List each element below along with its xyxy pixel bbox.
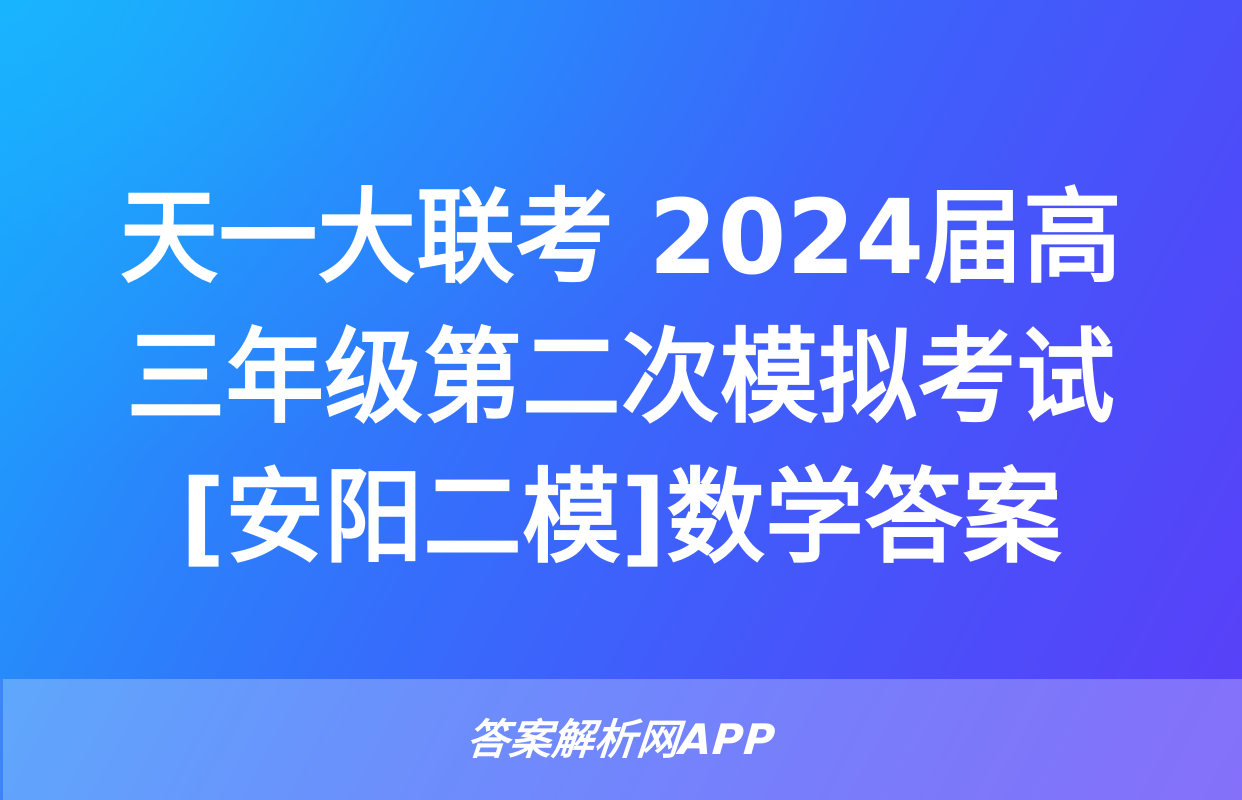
poster-canvas: 天一大联考 2024届高三年级第二次模拟考试[安阳二模]数学答案 答案解析网AP…	[0, 0, 1242, 800]
watermark-label: 答案解析网APP	[465, 719, 777, 761]
page-title: 天一大联考 2024届高三年级第二次模拟考试[安阳二模]数学答案	[95, 168, 1147, 588]
title-block: 天一大联考 2024届高三年级第二次模拟考试[安阳二模]数学答案	[0, 168, 1242, 588]
watermark-band: 答案解析网APP	[0, 679, 1242, 800]
